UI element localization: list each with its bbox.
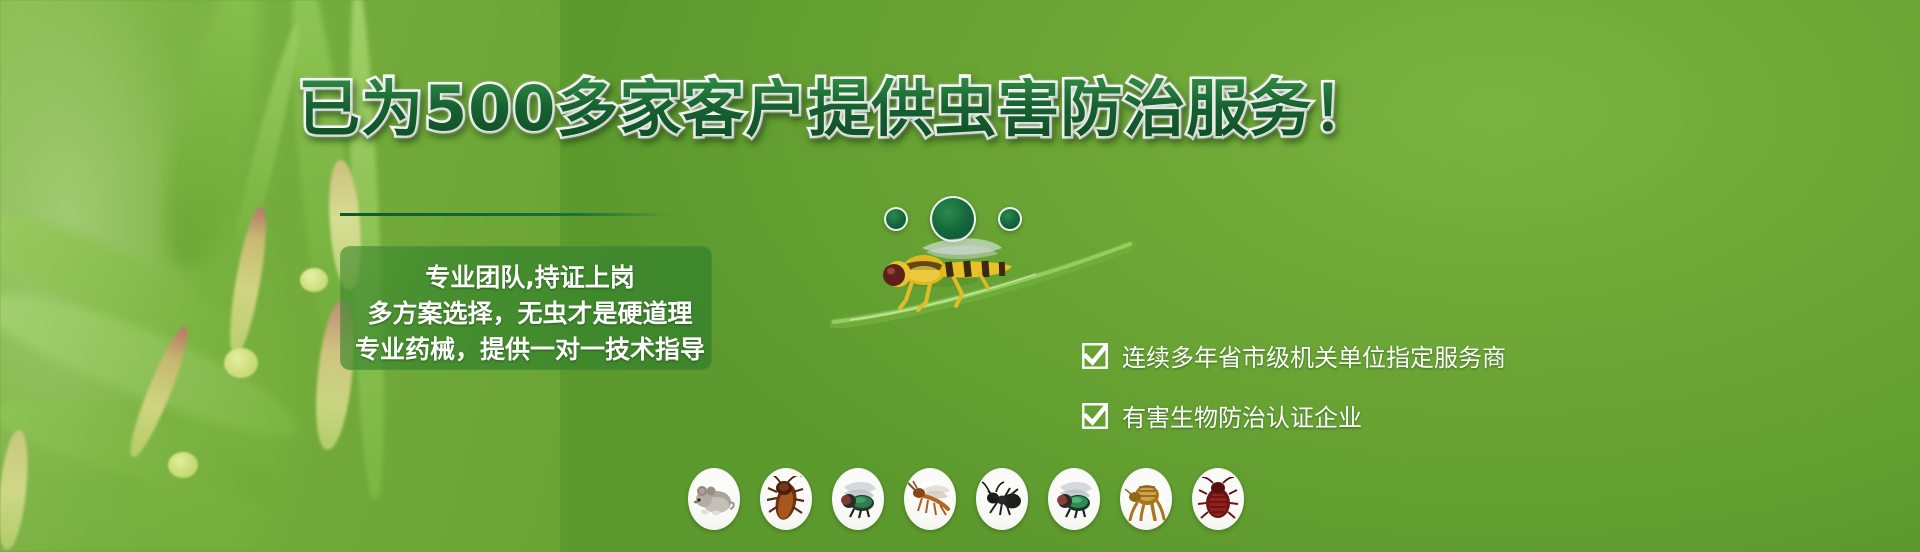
mosquito-icon[interactable] — [904, 468, 956, 530]
hoverfly-on-stem-icon — [830, 236, 1170, 328]
flea-icon[interactable] — [1120, 468, 1172, 530]
page-title: 已为500多家客户提供虫害防治服务！ — [298, 78, 1375, 140]
pest-control-hero-banner: 已为500多家客户提供虫害防治服务！ 已为500多家客户提供虫害防治服务！ 专业… — [0, 0, 1920, 552]
claim-line-1: 专业团队,持证上岗 — [425, 258, 635, 294]
pest-type-strip — [688, 468, 1244, 530]
flower-spike — [0, 429, 32, 551]
divider — [340, 213, 672, 216]
list-item: 有害生物防治认证企业 — [1082, 398, 1506, 433]
certification-list: 连续多年省市级机关单位指定服务商 有害生物防治认证企业 — [1082, 338, 1506, 458]
cockroach-icon[interactable] — [760, 468, 812, 530]
dot-small-right — [998, 207, 1022, 231]
bedbug-icon[interactable] — [1192, 468, 1244, 530]
list-item-label: 有害生物防治认证企业 — [1122, 398, 1362, 433]
fly-icon[interactable] — [832, 468, 884, 530]
list-item: 连续多年省市级机关单位指定服务商 — [1082, 338, 1506, 373]
claims-list: 专业团队,持证上岗 多方案选择，无虫才是硬道理 专业药械，提供一对一技术指导 — [330, 252, 730, 364]
list-item-label: 连续多年省市级机关单位指定服务商 — [1122, 338, 1506, 373]
claim-line-3: 专业药械，提供一对一技术指导 — [355, 330, 705, 366]
flower-bead — [224, 348, 258, 378]
dot-small-left — [884, 207, 908, 231]
claim-line-2: 多方案选择，无虫才是硬道理 — [367, 294, 692, 330]
check-box-icon — [1082, 403, 1108, 429]
blowfly-icon[interactable] — [1048, 468, 1100, 530]
mouse-icon[interactable] — [688, 468, 740, 530]
flower-bead — [300, 268, 328, 292]
flower-bead — [168, 452, 198, 478]
ant-icon[interactable] — [976, 468, 1028, 530]
check-box-icon — [1082, 343, 1108, 369]
flower-spike — [223, 205, 273, 357]
